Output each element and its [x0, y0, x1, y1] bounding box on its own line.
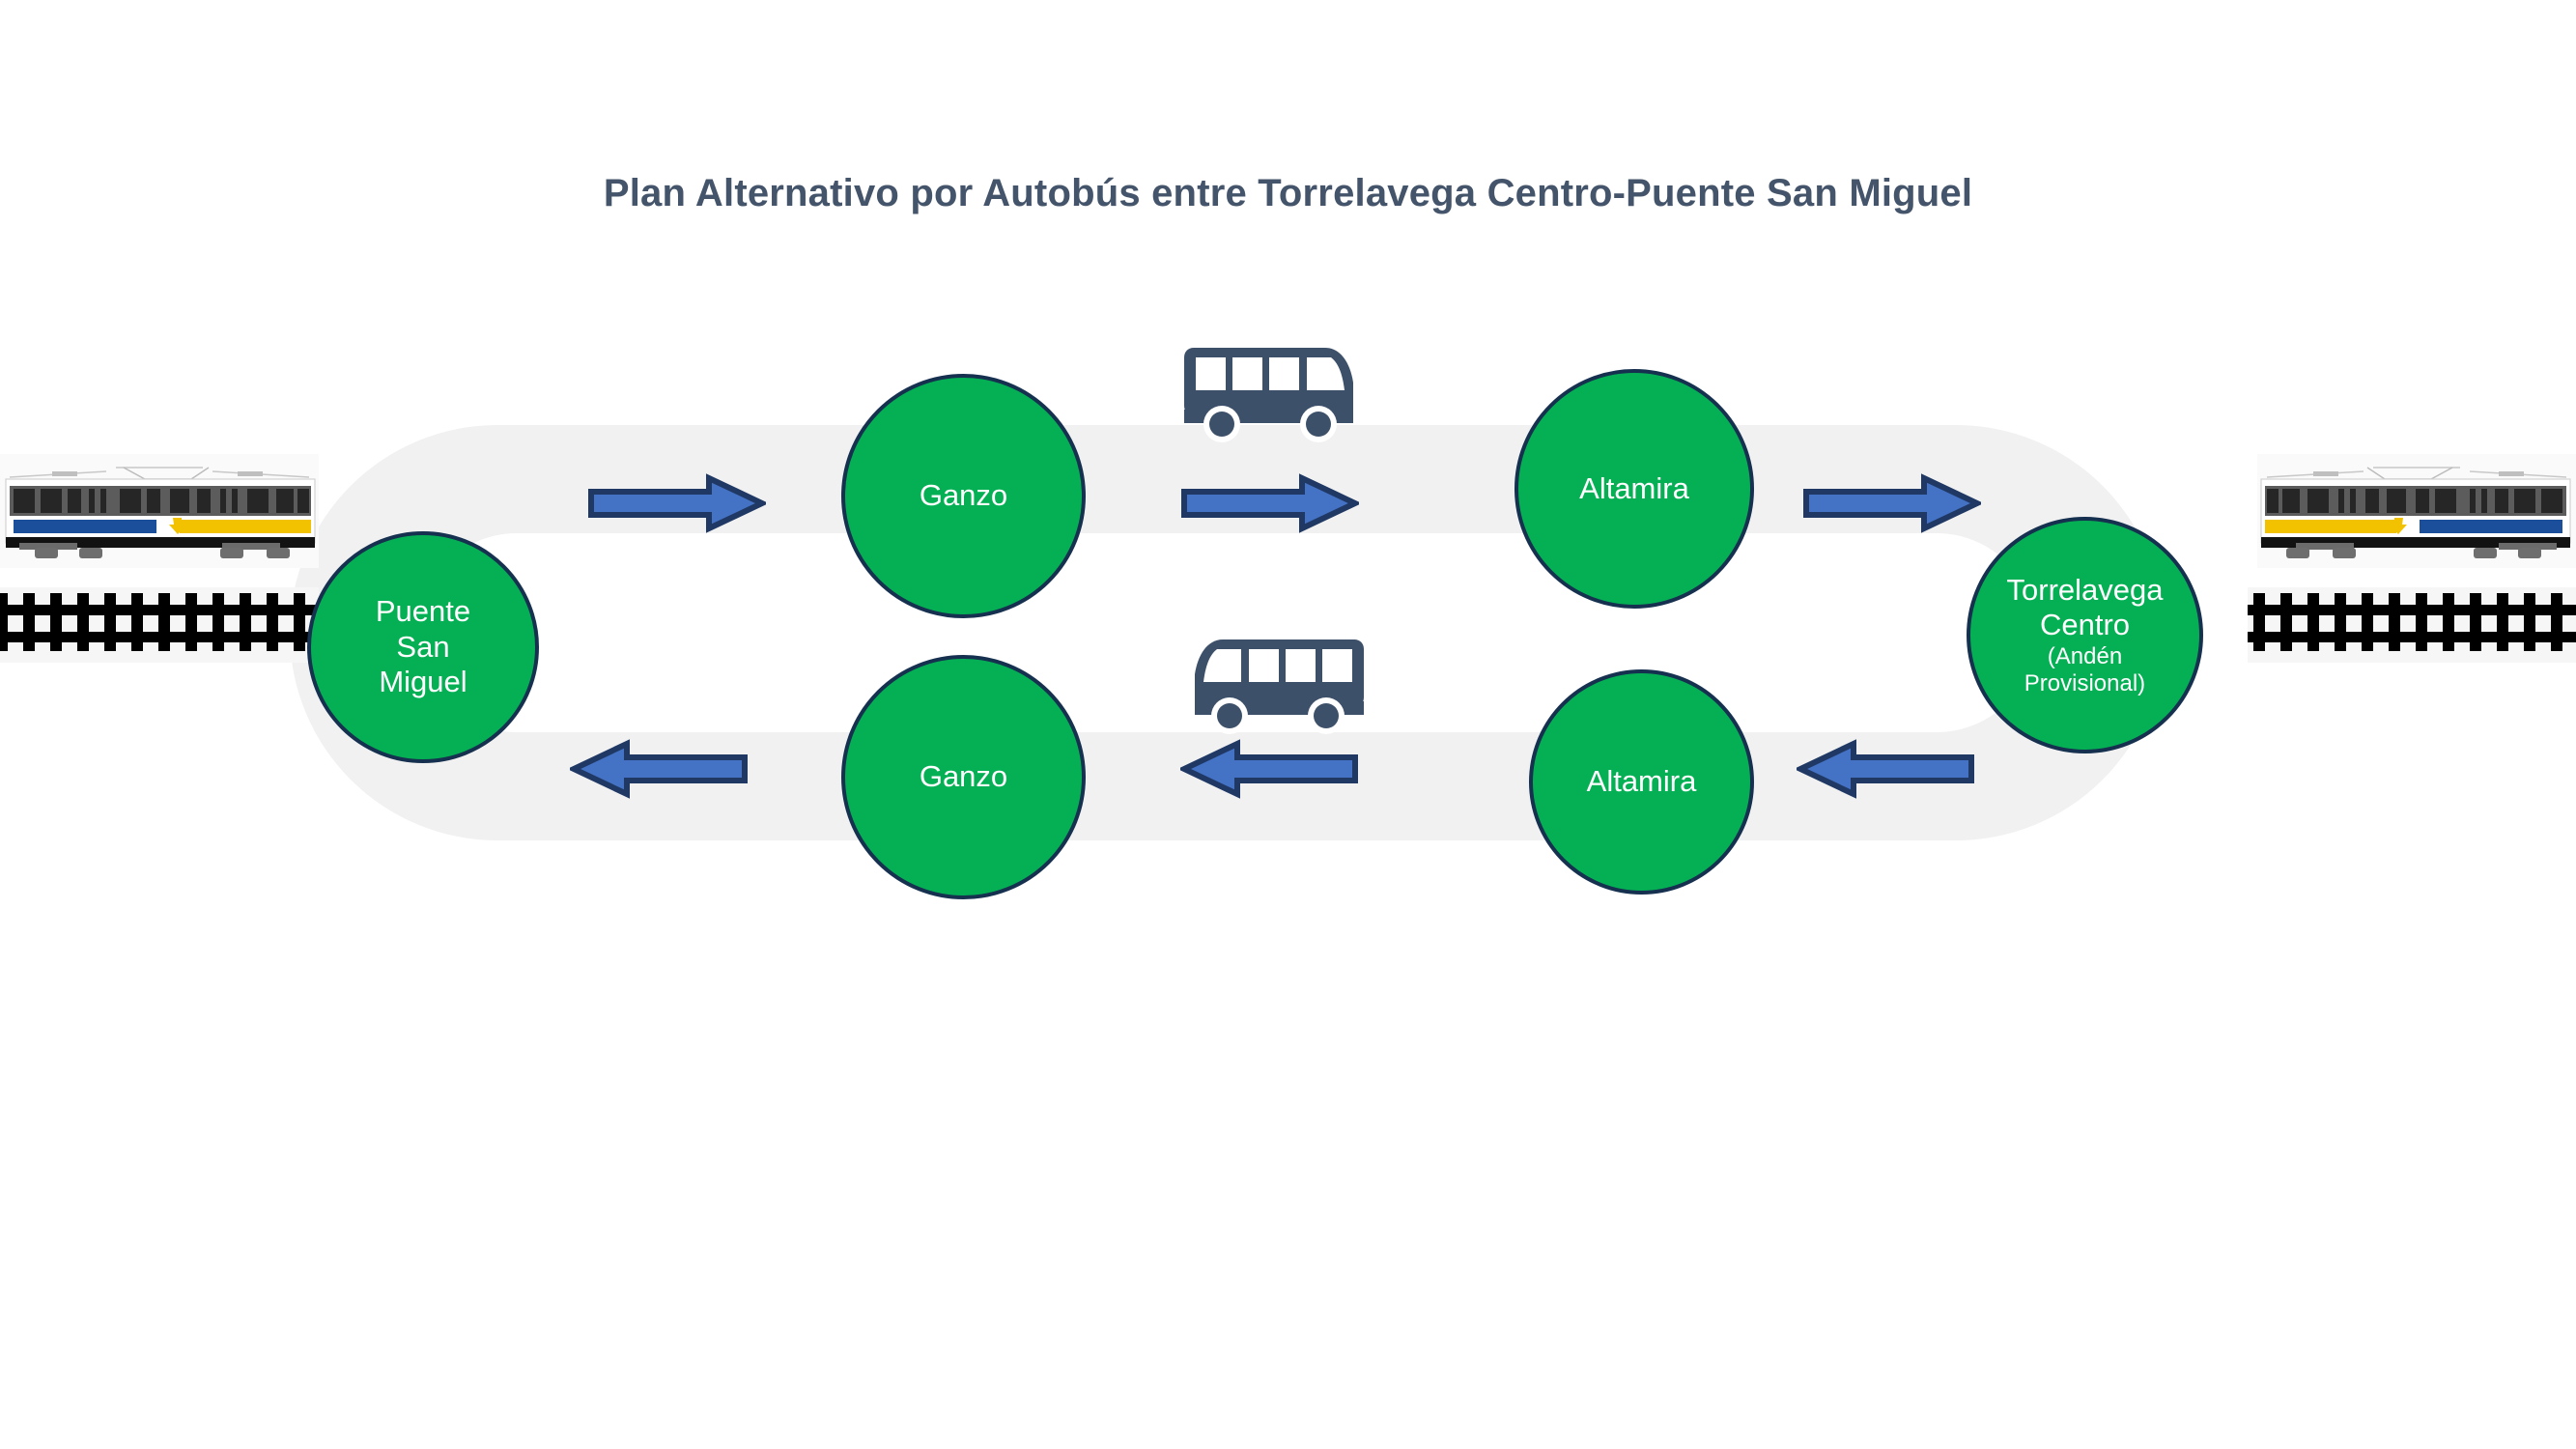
station-label: Ganzo: [920, 759, 1007, 795]
train-photo-left: [0, 454, 319, 568]
station-label-line3: Miguel: [379, 665, 467, 700]
arrow-outbound-1: [587, 473, 766, 533]
station-label-line1: Puente: [376, 594, 470, 630]
station-sublabel-line2: Provisional): [2024, 670, 2145, 697]
station-label-line2: Centro: [2040, 608, 2130, 643]
left-rail-group: [0, 454, 328, 696]
railway-track-right: [2248, 587, 2576, 663]
station-altamira-inbound[interactable]: Altamira: [1529, 669, 1754, 895]
station-label-line1: Torrelavega: [2007, 573, 2164, 609]
bus-icon-right: [1180, 336, 1364, 447]
arrow-outbound-3: [1802, 473, 1981, 533]
train-photo-right: [2257, 454, 2576, 568]
bus-icon-left: [1184, 628, 1368, 739]
diagram-canvas: Ganzo Altamira Puente: [0, 0, 2576, 1449]
station-sublabel-line1: (Andén: [2048, 643, 2122, 670]
station-puente-san-miguel[interactable]: Puente San Miguel: [307, 531, 539, 763]
arrow-outbound-2: [1180, 473, 1359, 533]
station-ganzo-outbound[interactable]: Ganzo: [841, 374, 1086, 618]
station-label: Altamira: [1587, 764, 1697, 800]
station-label: Ganzo: [920, 478, 1007, 514]
station-altamira-outbound[interactable]: Altamira: [1514, 369, 1754, 609]
station-label-line2: San: [396, 630, 449, 666]
station-torrelavega-centro[interactable]: Torrelavega Centro (Andén Provisional): [1967, 517, 2203, 753]
railway-track-left: [0, 587, 319, 663]
station-ganzo-inbound[interactable]: Ganzo: [841, 655, 1086, 899]
arrow-inbound-2: [1180, 739, 1359, 799]
arrow-inbound-3: [1797, 739, 1975, 799]
right-rail-group: [2248, 454, 2576, 696]
station-label: Altamira: [1579, 471, 1689, 507]
arrow-inbound-1: [570, 739, 749, 799]
